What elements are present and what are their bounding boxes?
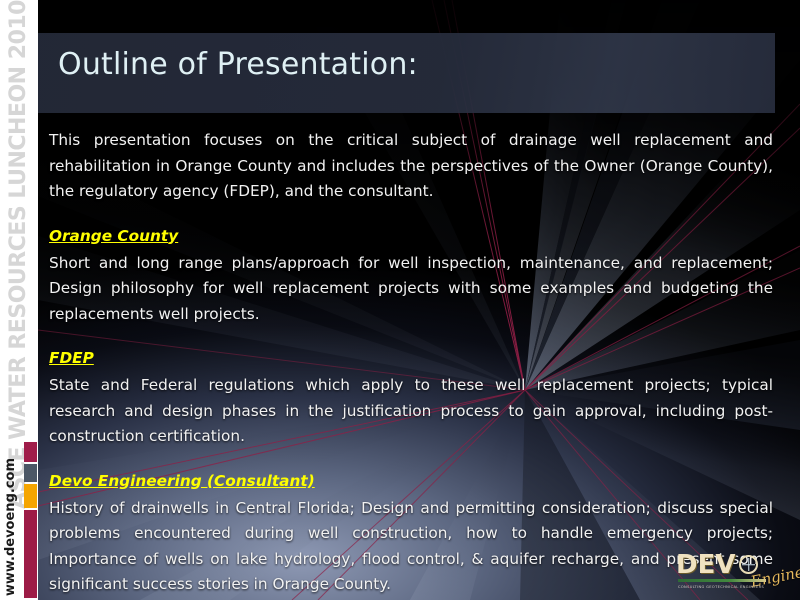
section-orange-county: Orange County Short and long range plans… [49, 225, 773, 328]
accent-bar-orange [24, 484, 37, 508]
section-devo-engineering: Devo Engineering (Consultant) History of… [49, 470, 773, 598]
slide-body: This presentation focuses on the critica… [49, 128, 773, 598]
website-vertical[interactable]: www.devoeng.com [0, 436, 22, 596]
logo-wordmark: DEV [676, 550, 735, 580]
section-text-orange-county: Short and long range plans/approach for … [49, 251, 773, 328]
section-heading-orange-county: Orange County [49, 225, 178, 247]
accent-bar-crimson-top [24, 442, 37, 462]
spacer [49, 450, 773, 470]
intro-paragraph: This presentation focuses on the critica… [49, 128, 773, 205]
accent-bar-crimson-long [24, 510, 37, 598]
logo-tagline: CONSULTING GEOTECHNICAL ENGINEERS [678, 585, 764, 589]
section-text-fdep: State and Federal regulations which appl… [49, 373, 773, 450]
section-heading-devo-engineering: Devo Engineering (Consultant) [49, 470, 315, 492]
accent-bar-slate [24, 464, 37, 482]
presentation-slide: Outline of Presentation: This presentati… [0, 0, 800, 600]
website-text[interactable]: www.devoeng.com [0, 458, 22, 596]
section-text-devo-engineering: History of drainwells in Central Florida… [49, 496, 773, 598]
logo-rule [678, 579, 766, 582]
section-heading-fdep: FDEP [49, 347, 94, 369]
event-label-vertical: ASCE WATER RESOURCES LUNCHEON 2010 [0, 0, 38, 430]
section-fdep: FDEP State and Federal regulations which… [49, 347, 773, 450]
devo-engineering-logo: DEV Engineering CONSULTING GEOTECHNICAL … [676, 548, 794, 596]
spacer [49, 205, 773, 225]
spacer [49, 327, 773, 347]
left-sidebar: ASCE WATER RESOURCES LUNCHEON 2010 www.d… [0, 0, 38, 600]
page-title: Outline of Presentation: [58, 47, 418, 82]
